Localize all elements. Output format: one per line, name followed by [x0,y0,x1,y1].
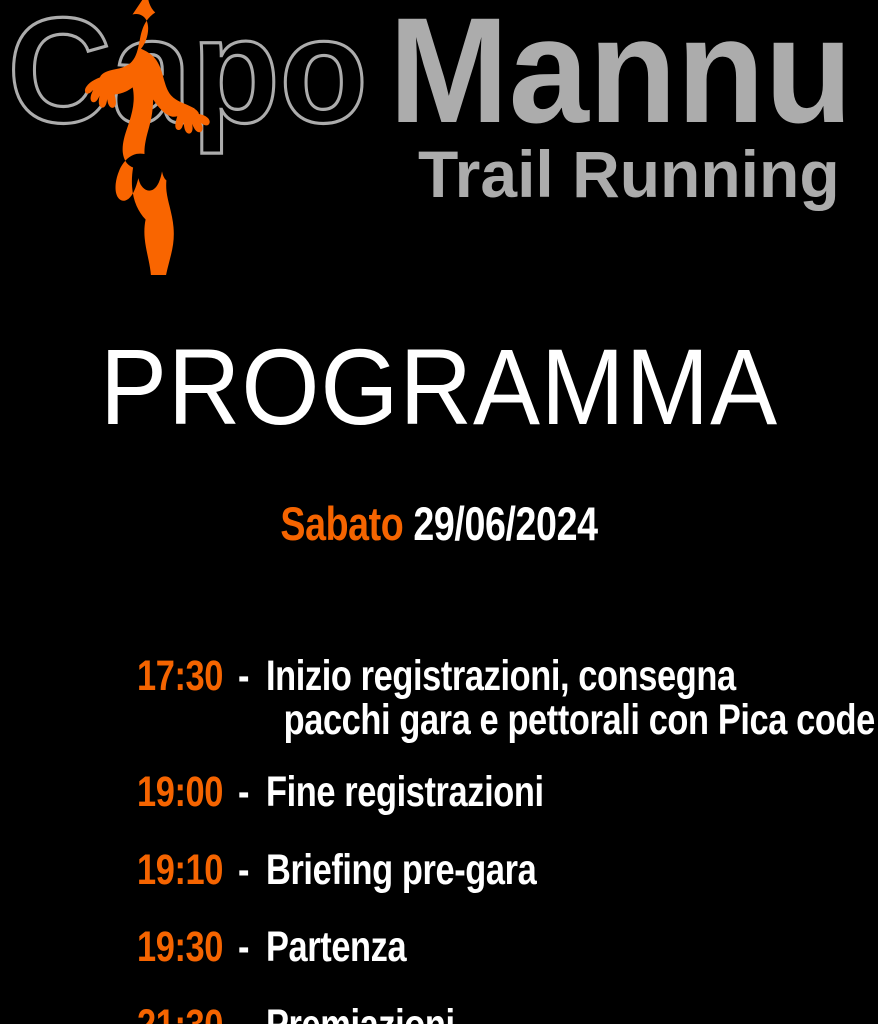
schedule-time: 19:10 [137,849,218,893]
schedule-description: Fine registrazioni [266,771,544,815]
logo-artwork: Capo Mannu Trail Running [0,0,878,275]
schedule-separator: - [238,655,260,699]
schedule-row: 19:10 - Briefing pre-gara [0,849,878,893]
schedule-time: 19:00 [137,771,218,815]
schedule-description-line2: pacchi gara e pettorali con Pica code [266,699,875,743]
event-logo: Capo Mannu Trail Running [0,0,878,275]
schedule-description: Briefing pre-gara [266,849,536,893]
event-date-weekday: Sabato [280,497,403,550]
event-date-value: 29/06/2024 [413,497,597,550]
schedule-row: 19:00 - Fine registrazioni [0,771,878,815]
schedule-list: 17:30 - Inizio registrazioni, consegnapa… [0,655,878,1024]
schedule-time: 17:30 [137,655,218,699]
schedule-row: 21:30 - Premiazioni [0,1004,878,1024]
page-title: PROGRAMMA [31,333,848,441]
schedule-separator: - [238,771,260,815]
schedule-time: 19:30 [137,926,218,970]
schedule-description: Inizio registrazioni, consegnapacchi gar… [266,655,875,743]
schedule-row: 17:30 - Inizio registrazioni, consegnapa… [0,655,878,743]
event-date: Sabato 29/06/2024 [88,500,790,547]
poster-root: Capo Mannu Trail Running PROGRAMMA Sabat… [0,0,878,1024]
logo-tagline-group: Trail Running [418,137,840,211]
schedule-separator: - [238,1004,260,1024]
schedule-description: Premiazioni [266,1004,455,1024]
schedule-separator: - [238,849,260,893]
logo-tagline-text: Trail Running [418,137,840,211]
schedule-time: 21:30 [137,1004,218,1024]
logo-mannu-text: Mannu [389,0,853,155]
schedule-description-line1: Inizio registrazioni, consegna [266,652,736,700]
schedule-row: 19:30 - Partenza [0,926,878,970]
logo-word-mannu-solid: Mannu [389,0,853,155]
schedule-description: Partenza [266,926,406,970]
schedule-separator: - [238,926,260,970]
